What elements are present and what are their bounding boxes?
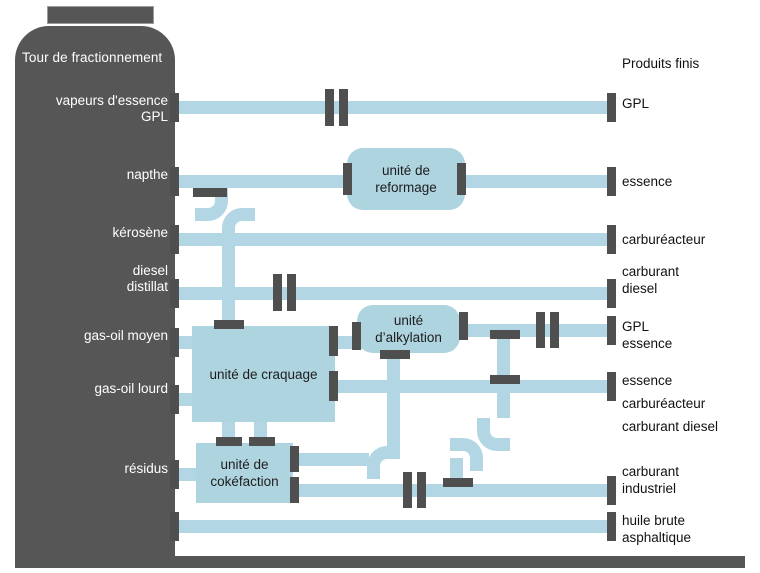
product-huile-brute-line2: asphaltique xyxy=(622,529,691,546)
product-carburant-diesel-line1: carburant xyxy=(622,263,679,280)
valve-coke-top-b[interactable] xyxy=(249,437,275,446)
ground-bar xyxy=(15,556,745,568)
product-carburant-diesel: carburant diesel xyxy=(622,263,679,297)
pipe-right-elbow-1 xyxy=(477,418,510,451)
tower-label-vapeurs-essence-line1: vapeurs d'essence xyxy=(18,93,168,109)
product-gpl-essence: GPL essence xyxy=(622,318,672,352)
product-carburant-industriel: carburant industriel xyxy=(622,463,679,497)
product-essence-group: essence carburéacteur carburant diesel xyxy=(622,372,718,435)
unit-alkylation-line1: unité xyxy=(375,312,442,329)
tower-label-diesel-line2: distillat xyxy=(18,279,168,295)
valve-right-vertical-mid[interactable] xyxy=(490,375,520,384)
product-gpl: GPL xyxy=(622,95,649,112)
valve-tower-outlet-diesel[interactable] xyxy=(170,279,179,308)
valve-industriel-b[interactable] xyxy=(417,472,426,508)
valve-gpl-b[interactable] xyxy=(339,89,348,126)
valve-product-gpl-essence[interactable] xyxy=(607,316,616,345)
product-carbureacteur: carburéacteur xyxy=(622,231,705,248)
valve-alkylation-in[interactable] xyxy=(352,322,361,350)
product-huile-brute: huile brute asphaltique xyxy=(622,512,691,546)
unit-reformage-line1: unité de xyxy=(375,162,437,179)
valve-tower-outlet-huile[interactable] xyxy=(170,512,179,541)
product-carburant-industriel-line2: industriel xyxy=(622,480,679,497)
unit-alkylation-line2: d’alkylation xyxy=(375,329,442,346)
valve-product-essence2[interactable] xyxy=(607,372,616,401)
pipe-diesel-main xyxy=(175,287,612,300)
valve-tower-outlet-residus[interactable] xyxy=(170,460,179,489)
pipe-reformage-to-essence xyxy=(455,175,612,188)
valve-coke-out-lower[interactable] xyxy=(290,477,299,503)
unit-alkylation[interactable]: unité d’alkylation xyxy=(357,305,460,353)
valve-craquage-out-lower[interactable] xyxy=(329,371,338,401)
unit-craquage-line1: unité de craquage xyxy=(209,366,317,383)
tower-cap xyxy=(47,6,154,24)
pipe-huile-brute xyxy=(175,520,612,533)
valve-tower-outlet-gasoil-lourd[interactable] xyxy=(170,385,179,414)
tower-label-gas-oil-lourd: gas-oil lourd xyxy=(18,381,168,397)
unit-cokefaction-line2: cokéfaction xyxy=(210,473,278,490)
product-huile-brute-line1: huile brute xyxy=(622,512,691,529)
valve-coke-top-a[interactable] xyxy=(216,437,242,446)
tower-label-napthe: napthe xyxy=(18,167,168,183)
valve-tower-outlet-kerosene[interactable] xyxy=(170,225,179,254)
pipe-napthe-to-reformage xyxy=(175,175,350,188)
valve-industriel-a[interactable] xyxy=(403,472,412,508)
valve-alkylation-out[interactable] xyxy=(459,312,468,340)
valve-product-industriel[interactable] xyxy=(607,476,616,505)
valve-gpl-essence-b[interactable] xyxy=(550,312,559,348)
valve-gpl-a[interactable] xyxy=(325,89,334,126)
product-essence-group-line3: carburant diesel xyxy=(622,418,718,435)
valve-alkylation-bottom[interactable] xyxy=(380,350,410,359)
valve-product-essence[interactable] xyxy=(607,167,616,196)
tower-label-vapeurs-essence-line2: GPL xyxy=(18,109,168,125)
valve-tower-outlet-gpl[interactable] xyxy=(170,93,179,122)
pipe-coke-elbow xyxy=(367,446,400,479)
valve-tower-outlet-gasoil-moyen[interactable] xyxy=(170,328,179,357)
product-essence-group-line2: carburéacteur xyxy=(622,395,718,412)
refinery-process-diagram: unité de reformage unité de craquage uni… xyxy=(0,0,760,573)
tower-label-residus: résidus xyxy=(18,461,168,477)
pipe-kerosene-main xyxy=(175,233,612,246)
pipe-craquage-to-essence-row xyxy=(330,380,612,393)
product-essence: essence xyxy=(622,173,672,190)
valve-right-vertical-bottom[interactable] xyxy=(443,478,473,487)
unit-cokefaction[interactable]: unité de cokéfaction xyxy=(196,443,293,503)
valve-tower-outlet-napthe[interactable] xyxy=(170,167,179,196)
valve-product-gpl[interactable] xyxy=(607,93,616,122)
tower-label-diesel-line1: diesel xyxy=(18,263,168,279)
tower-label-kerosene: kérosène xyxy=(18,225,168,241)
valve-gpl-essence-a[interactable] xyxy=(536,312,545,348)
pipe-coke-riser xyxy=(387,348,400,446)
valve-product-carbureacteur[interactable] xyxy=(607,225,616,254)
products-header: Produits finis xyxy=(622,56,699,71)
valve-craquage-out-upper[interactable] xyxy=(329,326,338,356)
tower-title: Tour de fractionnement xyxy=(22,50,170,65)
valve-napthe-branch[interactable] xyxy=(193,188,227,197)
unit-craquage[interactable]: unité de craquage xyxy=(192,326,335,422)
product-essence-group-line1: essence xyxy=(622,372,718,389)
pipe-gpl-main xyxy=(175,101,612,114)
product-gpl-essence-line2: essence xyxy=(622,335,672,352)
valve-reformage-out[interactable] xyxy=(457,163,466,195)
product-carburant-industriel-line1: carburant xyxy=(622,463,679,480)
tower-label-diesel: diesel distillat xyxy=(18,263,168,295)
valve-product-huile[interactable] xyxy=(607,512,616,541)
valve-right-vertical-top[interactable] xyxy=(490,330,520,339)
unit-reformage[interactable]: unité de reformage xyxy=(347,148,465,210)
product-gpl-essence-line1: GPL xyxy=(622,318,672,335)
valve-diesel-a[interactable] xyxy=(273,274,282,311)
valve-craquage-top[interactable] xyxy=(214,320,244,329)
unit-reformage-line2: reformage xyxy=(375,179,437,196)
valve-diesel-b[interactable] xyxy=(287,274,296,311)
pipe-right-vertical xyxy=(497,330,510,418)
tower-label-vapeurs-essence: vapeurs d'essence GPL xyxy=(18,93,168,125)
tower-label-gas-oil-moyen: gas-oil moyen xyxy=(18,328,168,344)
product-carburant-diesel-line2: diesel xyxy=(622,280,679,297)
valve-reformage-in[interactable] xyxy=(343,163,352,195)
unit-cokefaction-line1: unité de xyxy=(210,456,278,473)
valve-coke-out-upper[interactable] xyxy=(290,446,299,472)
pipe-coke-upper-out xyxy=(295,453,369,466)
valve-product-carburant-diesel[interactable] xyxy=(607,279,616,308)
